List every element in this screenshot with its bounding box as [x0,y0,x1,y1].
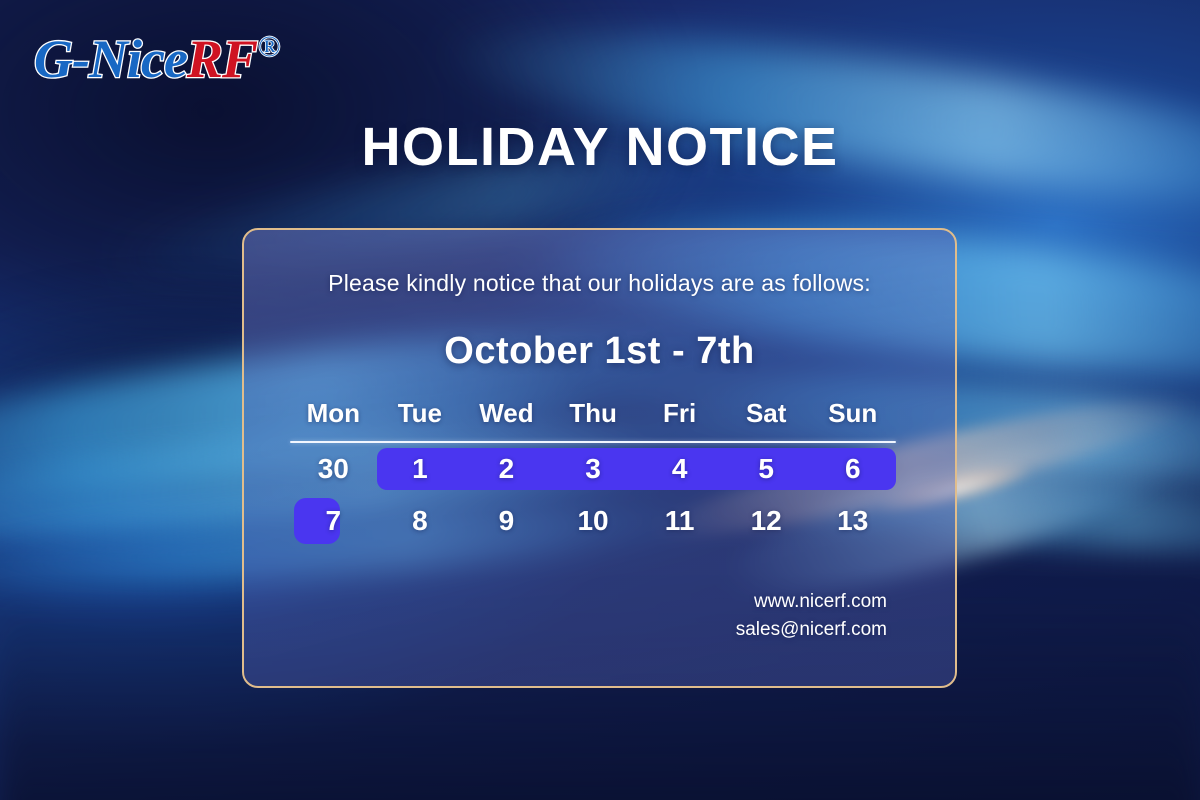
contact-info: www.nicerf.com sales@nicerf.com [736,588,887,644]
calendar-day-holiday: 7 [290,505,377,537]
logo-text-primary: G-Nice [34,28,187,90]
calendar-day: 8 [377,505,464,537]
weekday-fri: Fri [636,393,723,433]
email-link[interactable]: sales@nicerf.com [736,616,887,644]
registered-trademark-icon: ® [258,30,281,64]
calendar-day: 13 [809,505,896,537]
calendar-week-row-1: 30 1 2 3 4 5 6 [290,443,896,495]
holiday-notice-poster: G-NiceRF® HOLIDAY NOTICE Please kindly n… [0,0,1200,800]
calendar-week-row-2: 7 8 9 10 11 12 13 [290,495,896,547]
calendar-day: 11 [636,505,723,537]
website-link[interactable]: www.nicerf.com [736,588,887,616]
calendar-day: 30 [290,453,377,485]
calendar: Mon Tue Wed Thu Fri Sat Sun 30 1 2 3 4 5… [290,393,896,547]
weekday-wed: Wed [463,393,550,433]
page-title: HOLIDAY NOTICE [0,116,1200,178]
weekday-sun: Sun [809,393,896,433]
calendar-day: 10 [550,505,637,537]
holiday-date-range: October 1st - 7th [244,330,955,373]
brand-logo: G-NiceRF® [34,28,281,90]
calendar-day-holiday: 3 [550,453,637,485]
weekday-thu: Thu [550,393,637,433]
calendar-day-holiday: 1 [377,453,464,485]
calendar-day-holiday: 6 [809,453,896,485]
calendar-day-holiday: 2 [463,453,550,485]
notice-message: Please kindly notice that our holidays a… [244,270,955,297]
calendar-day: 9 [463,505,550,537]
weekday-sat: Sat [723,393,810,433]
notice-card: Please kindly notice that our holidays a… [242,228,957,688]
weekday-mon: Mon [290,393,377,433]
weekday-tue: Tue [377,393,464,433]
logo-text-secondary: RF [187,28,257,90]
calendar-day-holiday: 5 [723,453,810,485]
calendar-day: 12 [723,505,810,537]
calendar-day-holiday: 4 [636,453,723,485]
calendar-weekday-header: Mon Tue Wed Thu Fri Sat Sun [290,393,896,433]
